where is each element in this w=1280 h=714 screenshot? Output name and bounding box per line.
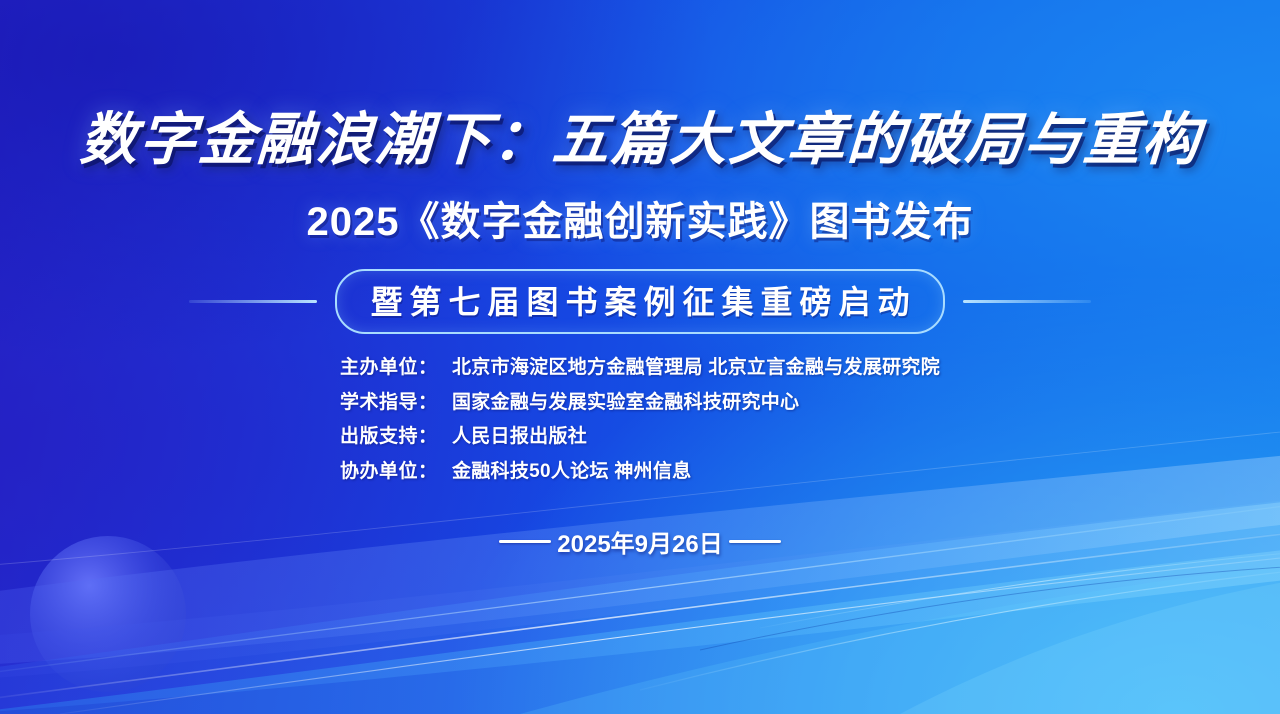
info-value: 金融科技50人论坛 神州信息 [452,458,692,487]
event-date-text: 2025年9月26日 [557,524,722,559]
info-value: 国家金融与发展实验室金融科技研究中心 [452,389,799,418]
info-label: 协办单位： [340,458,452,487]
info-value: 北京市海淀区地方金融管理局 北京立言金融与发展研究院 [452,354,940,383]
event-poster: 数字金融浪潮下：五篇大文章的破局与重构 2025《数字金融创新实践》图书发布 暨… [0,0,1280,714]
info-value: 人民日报出版社 [452,423,587,452]
divider-line-left [189,300,317,303]
info-label: 主办单位： [340,354,452,383]
list-item: 协办单位： 金融科技50人论坛 神州信息 [340,458,940,487]
list-item: 学术指导： 国家金融与发展实验室金融科技研究中心 [340,389,940,418]
divider-line-right [963,300,1091,303]
info-label: 学术指导： [340,389,452,418]
page-title: 数字金融浪潮下：五篇大文章的破局与重构 [78,106,1203,173]
dash-right-icon [729,540,781,543]
status-badge: 暨第七届图书案例征集重磅启动 [335,269,944,334]
event-date: 2025年9月26日 [493,524,786,559]
highlight-banner-row: 暨第七届图书案例征集重磅启动 [0,269,1280,334]
poster-content: 数字金融浪潮下：五篇大文章的破局与重构 2025《数字金融创新实践》图书发布 暨… [0,0,1280,714]
organizer-info-list: 主办单位： 北京市海淀区地方金融管理局 北京立言金融与发展研究院 学术指导： 国… [340,354,940,486]
poster-subtitle: 2025《数字金融创新实践》图书发布 [307,189,974,247]
dash-left-icon [499,540,551,543]
list-item: 主办单位： 北京市海淀区地方金融管理局 北京立言金融与发展研究院 [340,354,940,383]
list-item: 出版支持： 人民日报出版社 [340,423,940,452]
info-label: 出版支持： [340,423,452,452]
